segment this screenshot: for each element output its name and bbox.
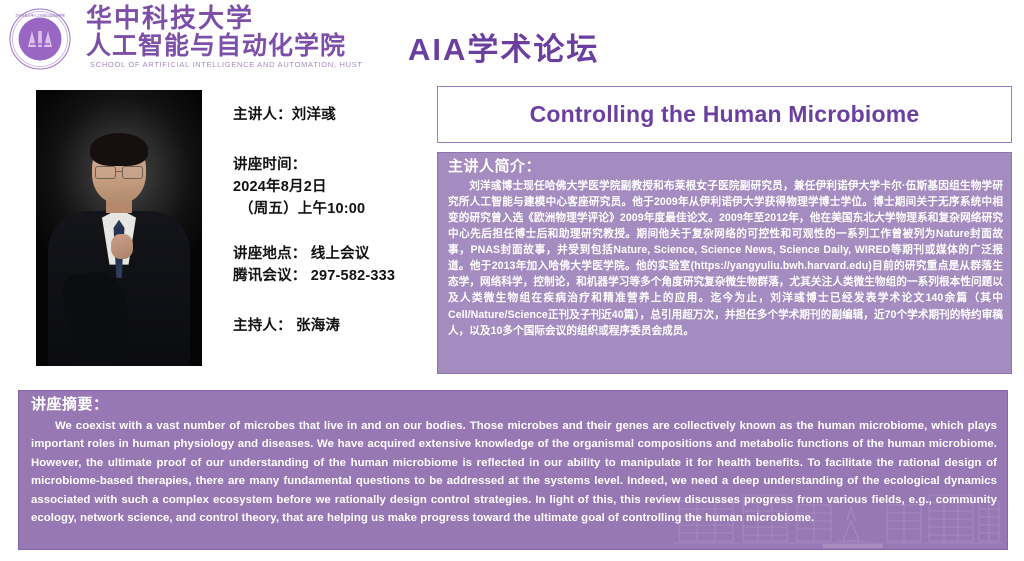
forum-title: AIA学术论坛 (408, 24, 599, 69)
portrait-hand (111, 234, 133, 259)
svg-text:华中科技大学人工智能与自动化学院: 华中科技大学人工智能与自动化学院 (15, 13, 65, 18)
speaker-portrait (33, 87, 205, 369)
page-header: 华中科技大学人工智能与自动化学院 华中科技大学 人工智能与自动化学院 SCHOO… (0, 0, 1024, 78)
spacer (233, 287, 433, 315)
lecture-date: 2024年8月2日 (233, 176, 433, 198)
host-line: 主持人： 张海涛 (233, 315, 433, 337)
spacer (233, 220, 433, 243)
speaker-info-block: 主讲人：刘洋彧 讲座时间： 2024年8月2日 （周五）上午10:00 讲座地点… (233, 104, 433, 337)
speaker-bio-panel: 主讲人简介： 刘洋彧博士现任哈佛大学医学院副教授和布莱根女子医院副研究员，兼任伊… (437, 152, 1012, 374)
school-name-cn-line2: 人工智能与自动化学院 (86, 33, 346, 59)
abstract-text: We coexist with a vast number of microbe… (31, 417, 997, 528)
lecture-time-label: 讲座时间： (233, 154, 433, 176)
lecture-venue: 讲座地点： 线上会议 (233, 243, 433, 265)
meeting-id: 腾讯会议： 297-582-333 (233, 265, 433, 287)
talk-title: Controlling the Human Microbiome (530, 101, 920, 128)
bio-heading: 主讲人简介： (448, 158, 1003, 177)
portrait-hair (90, 133, 148, 166)
speaker-name-line: 主讲人：刘洋彧 (233, 104, 433, 126)
portrait-image (36, 90, 202, 366)
lecture-clock: （周五）上午10:00 (233, 198, 433, 220)
abstract-panel: 讲座摘要： We coexist with a vast number of m… (18, 390, 1008, 550)
talk-title-box: Controlling the Human Microbiome (437, 86, 1012, 143)
portrait-glasses-icon (94, 166, 144, 178)
school-name-en: SCHOOL OF ARTIFICIAL INTELLIGENCE AND AU… (90, 60, 363, 69)
spacer (233, 126, 433, 154)
school-name-cn-line1: 华中科技大学 (86, 6, 254, 33)
aia-logo-icon: 华中科技大学人工智能与自动化学院 (8, 7, 72, 71)
abstract-heading: 讲座摘要： (31, 396, 997, 415)
bio-text: 刘洋彧博士现任哈佛大学医学院副教授和布莱根女子医院副研究员，兼任伊利诺伊大学卡尔… (448, 178, 1003, 339)
